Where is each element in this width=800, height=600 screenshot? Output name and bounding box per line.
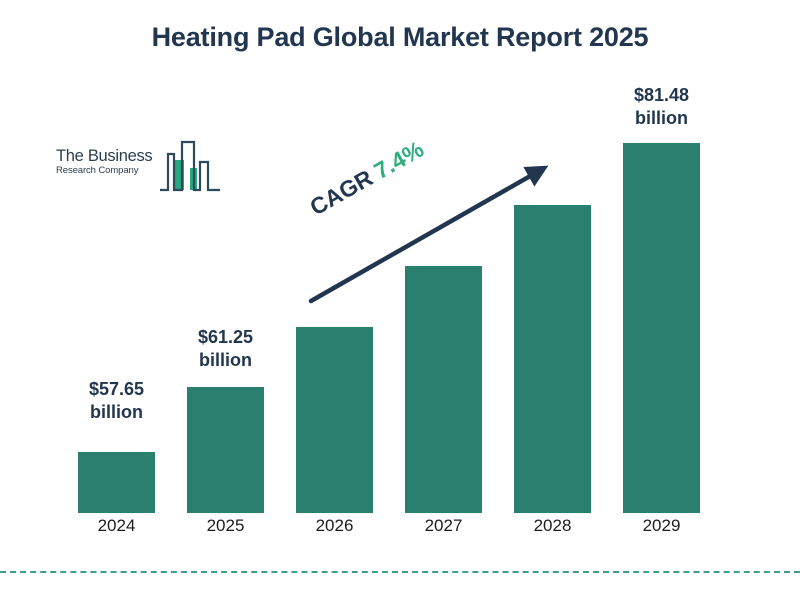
cagr-growth-arrow-icon bbox=[295, 145, 565, 315]
x-label-2029: 2029 bbox=[623, 516, 700, 536]
bar-value-2029-amount: $81.48 bbox=[613, 84, 710, 107]
x-label-2024: 2024 bbox=[78, 516, 155, 536]
bar-value-2024-unit: billion bbox=[68, 401, 165, 424]
bar-value-2024-amount: $57.65 bbox=[68, 378, 165, 401]
bar-2026 bbox=[296, 327, 373, 513]
chart-page: Heating Pad Global Market Report 2025 Th… bbox=[0, 0, 800, 600]
footer-divider bbox=[0, 571, 800, 573]
x-label-2028: 2028 bbox=[514, 516, 591, 536]
bar-value-2025: $61.25 billion bbox=[177, 326, 274, 372]
bar-2024 bbox=[78, 452, 155, 513]
bar-2025 bbox=[187, 387, 264, 513]
x-label-2027: 2027 bbox=[405, 516, 482, 536]
bar-value-2025-unit: billion bbox=[177, 349, 274, 372]
bar-value-2029-unit: billion bbox=[613, 107, 710, 130]
x-label-2025: 2025 bbox=[187, 516, 264, 536]
bar-value-2029: $81.48 billion bbox=[613, 84, 710, 130]
bar-2029 bbox=[623, 143, 700, 513]
bar-value-2025-amount: $61.25 bbox=[177, 326, 274, 349]
x-label-2026: 2026 bbox=[296, 516, 373, 536]
bar-value-2024: $57.65 billion bbox=[68, 378, 165, 424]
